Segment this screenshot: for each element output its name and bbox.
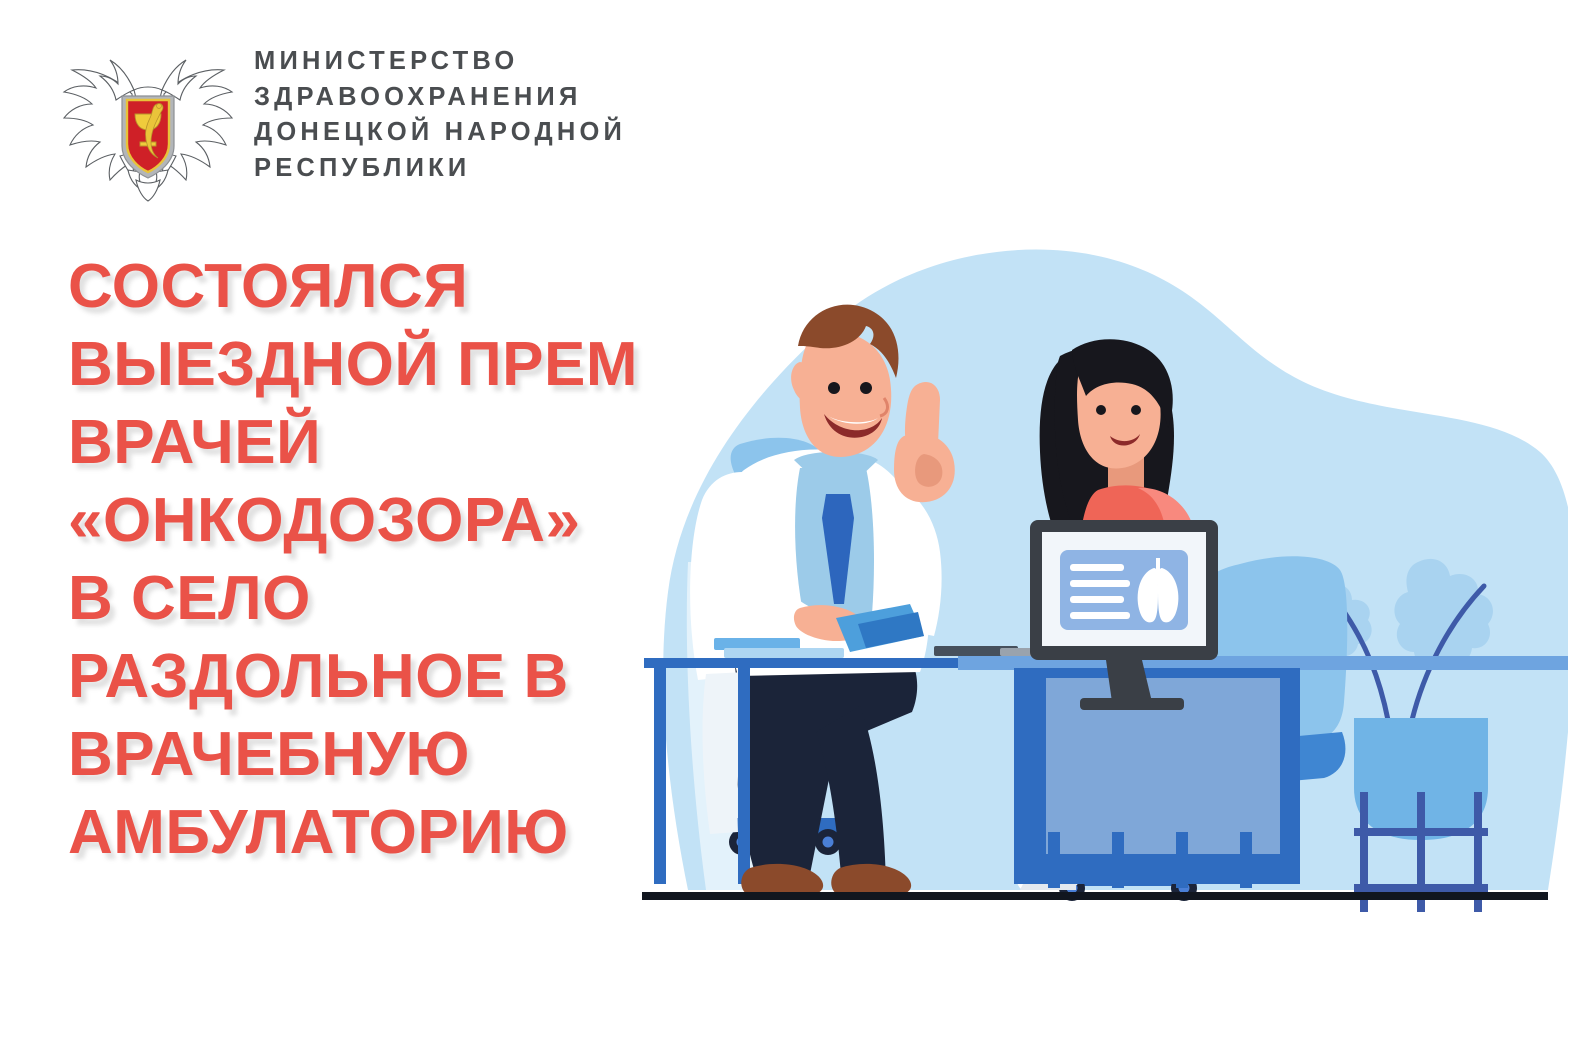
floor-line bbox=[642, 892, 1548, 900]
double-headed-eagle-emblem bbox=[58, 28, 238, 206]
patient-eye-right bbox=[1131, 405, 1141, 415]
monitor-stand bbox=[1080, 698, 1184, 710]
header: МИНИСТЕРСТВО ЗДРАВООХРАНЕНИЯ ДОНЕЦКОЙ НА… bbox=[58, 28, 626, 206]
ministry-title: МИНИСТЕРСТВО ЗДРАВООХРАНЕНИЯ ДОНЕЦКОЙ НА… bbox=[254, 44, 626, 186]
doctor-consulting-patient-illustration bbox=[628, 232, 1568, 912]
doctor-eye-right bbox=[860, 382, 872, 394]
doctor-eye-left bbox=[828, 382, 840, 394]
desk-leg-left2 bbox=[738, 668, 750, 884]
patient-eye-left bbox=[1096, 405, 1106, 415]
desk-leg-left bbox=[654, 668, 666, 884]
poster-canvas: МИНИСТЕРСТВО ЗДРАВООХРАНЕНИЯ ДОНЕЦКОЙ НА… bbox=[0, 0, 1596, 1049]
